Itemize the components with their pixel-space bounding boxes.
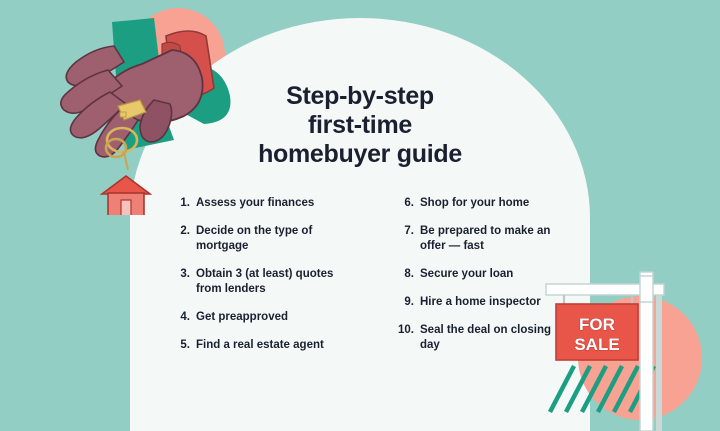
for-sale-sign-illustration: FOR SALE xyxy=(528,262,720,431)
list-item-number: 1. xyxy=(170,196,196,211)
infographic-canvas: Step-by-step first-time homebuyer guide … xyxy=(0,0,720,431)
list-item-number: 8. xyxy=(394,267,420,282)
title-line-1: Step-by-step xyxy=(130,82,590,111)
list-item: 2. Decide on the type of mortgage xyxy=(170,224,360,254)
list-item: 1. Assess your finances xyxy=(170,196,360,211)
list-item-text: Decide on the type of mortgage xyxy=(196,224,348,254)
page-title: Step-by-step first-time homebuyer guide xyxy=(130,82,590,169)
list-item-number: 6. xyxy=(394,196,420,211)
title-line-3: homebuyer guide xyxy=(130,140,590,169)
list-item-text: Hire a home inspector xyxy=(420,295,541,310)
list-item-number: 3. xyxy=(170,267,196,297)
list-item-number: 5. xyxy=(170,338,196,353)
list-item-number: 10. xyxy=(394,323,420,353)
title-line-2: first-time xyxy=(130,111,590,140)
steps-container: 1. Assess your finances 2. Decide on the… xyxy=(130,196,590,366)
list-item: 4. Get preapproved xyxy=(170,310,360,325)
list-item-text: Shop for your home xyxy=(420,196,529,211)
list-item-text: Be prepared to make an offer — fast xyxy=(420,224,570,254)
sign-text-sale: SALE xyxy=(574,335,619,354)
list-item-text: Obtain 3 (at least) quotes from lenders xyxy=(196,267,348,297)
list-item-text: Find a real estate agent xyxy=(196,338,324,353)
list-item: 5. Find a real estate agent xyxy=(170,338,360,353)
list-item: 6. Shop for your home xyxy=(394,196,590,211)
list-item-text: Assess your finances xyxy=(196,196,314,211)
list-item: 7. Be prepared to make an offer — fast xyxy=(394,224,590,254)
list-item-text: Secure your loan xyxy=(420,267,513,282)
post-shadow xyxy=(656,284,662,431)
steps-left-column: 1. Assess your finances 2. Decide on the… xyxy=(130,196,360,366)
list-item-text: Get preapproved xyxy=(196,310,288,325)
list-item-number: 4. xyxy=(170,310,196,325)
sign-text-for: FOR xyxy=(579,315,615,334)
list-item-number: 9. xyxy=(394,295,420,310)
diagonal-stripes xyxy=(550,366,654,412)
list-item-number: 2. xyxy=(170,224,196,254)
list-item: 3. Obtain 3 (at least) quotes from lende… xyxy=(170,267,360,297)
list-item-number: 7. xyxy=(394,224,420,254)
